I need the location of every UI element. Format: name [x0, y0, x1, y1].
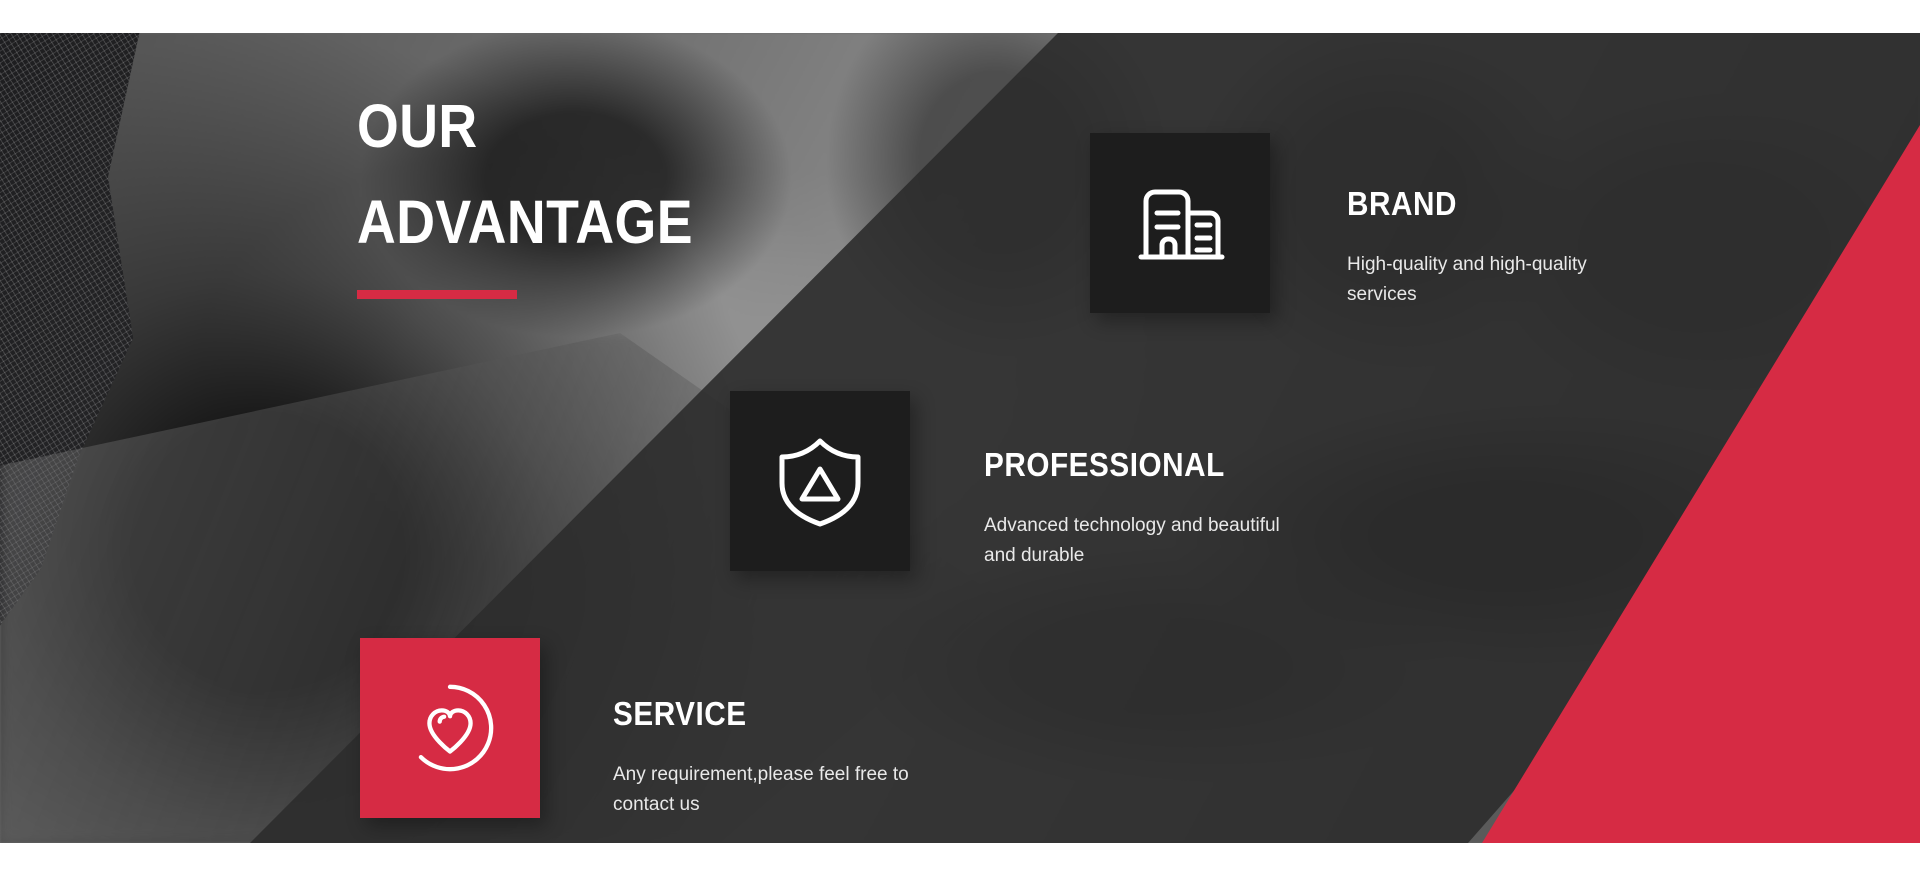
feature-service-text: SERVICE Any requirement,please feel free…	[613, 638, 913, 820]
feature-professional-heading: PROFESSIONAL	[984, 446, 1254, 484]
feature-service-body: Any requirement,please feel free to cont…	[613, 760, 913, 820]
title-line-2: ADVANTAGE	[357, 174, 735, 270]
building-icon	[1132, 175, 1228, 271]
feature-professional-tile	[730, 391, 910, 571]
feature-service-heading: SERVICE	[613, 695, 883, 733]
feature-professional[interactable]: PROFESSIONAL Advanced technology and bea…	[730, 391, 1284, 571]
feature-professional-text: PROFESSIONAL Advanced technology and bea…	[984, 391, 1284, 571]
title-line-1: OUR	[357, 78, 735, 174]
top-white-strip	[0, 0, 1920, 33]
bottom-white-strip	[0, 843, 1920, 869]
title-underline-rule	[357, 290, 517, 299]
feature-professional-body: Advanced technology and beautiful and du…	[984, 511, 1284, 571]
feature-brand-tile	[1090, 133, 1270, 313]
banner-canvas: OUR ADVANTAGE	[0, 33, 1920, 843]
feature-brand-text: BRAND High-quality and high-quality serv…	[1347, 133, 1637, 310]
advantage-banner: OUR ADVANTAGE	[0, 0, 1920, 869]
heart-circle-icon	[401, 679, 499, 777]
feature-brand-heading: BRAND	[1347, 185, 1608, 223]
section-title: OUR ADVANTAGE	[357, 78, 787, 270]
feature-brand[interactable]: BRAND High-quality and high-quality serv…	[1090, 133, 1637, 313]
shield-icon	[770, 431, 870, 531]
feature-service[interactable]: SERVICE Any requirement,please feel free…	[360, 638, 913, 820]
feature-brand-body: High-quality and high-quality services	[1347, 250, 1637, 310]
feature-service-tile	[360, 638, 540, 818]
